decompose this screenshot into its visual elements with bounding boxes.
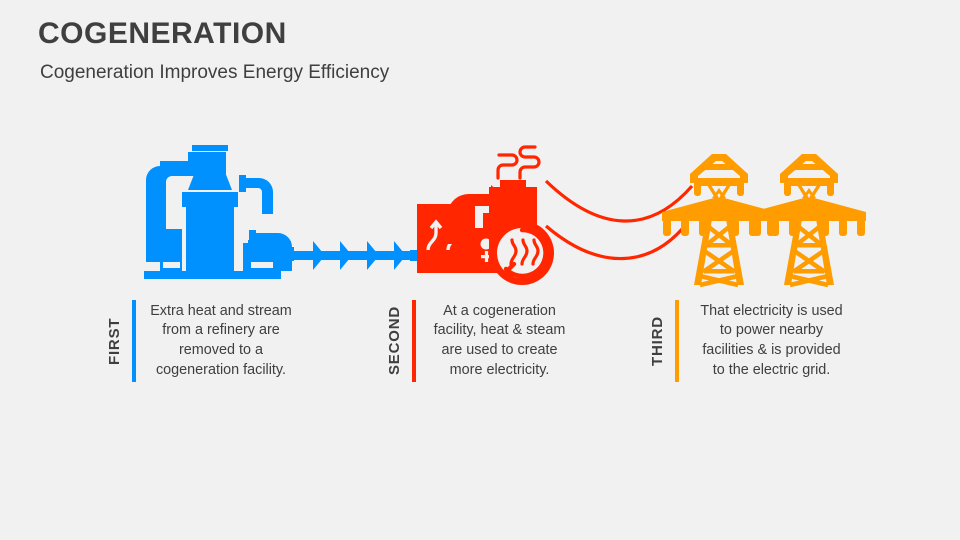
step-accent-bar-first bbox=[132, 300, 136, 382]
power-line bbox=[546, 181, 692, 221]
page-title: COGENERATION bbox=[38, 17, 287, 51]
step-first: FIRST Extra heat and stream from a refin… bbox=[105, 300, 295, 382]
page-subtitle: Cogeneration Improves Energy Efficiency bbox=[40, 62, 389, 84]
power-line-group bbox=[546, 181, 692, 259]
transmission-tower-icon bbox=[662, 154, 776, 285]
step-accent-bar-third bbox=[675, 300, 679, 382]
step-ordinal-third: THIRD bbox=[648, 300, 666, 382]
refinery-icon bbox=[144, 145, 294, 279]
heat-steam-flow-arrow bbox=[283, 241, 419, 270]
step-ordinal-second: SECOND bbox=[385, 300, 403, 382]
step-ordinal-first: FIRST bbox=[105, 300, 123, 382]
power-line bbox=[546, 222, 688, 259]
step-third: THIRD That electricity is used to power … bbox=[648, 300, 853, 382]
cogeneration-facility-icon bbox=[410, 147, 554, 285]
step-description-third: That electricity is used to power nearby… bbox=[690, 302, 853, 380]
step-description-first: Extra heat and stream from a refinery ar… bbox=[147, 302, 295, 380]
transmission-tower-icon bbox=[752, 154, 866, 285]
step-accent-bar-second bbox=[412, 300, 416, 382]
step-second: SECOND At a cogeneration facility, heat … bbox=[385, 300, 572, 382]
step-description-second: At a cogeneration facility, heat & steam… bbox=[427, 302, 572, 380]
slide-canvas: COGENERATION Cogeneration Improves Energ… bbox=[0, 0, 960, 540]
